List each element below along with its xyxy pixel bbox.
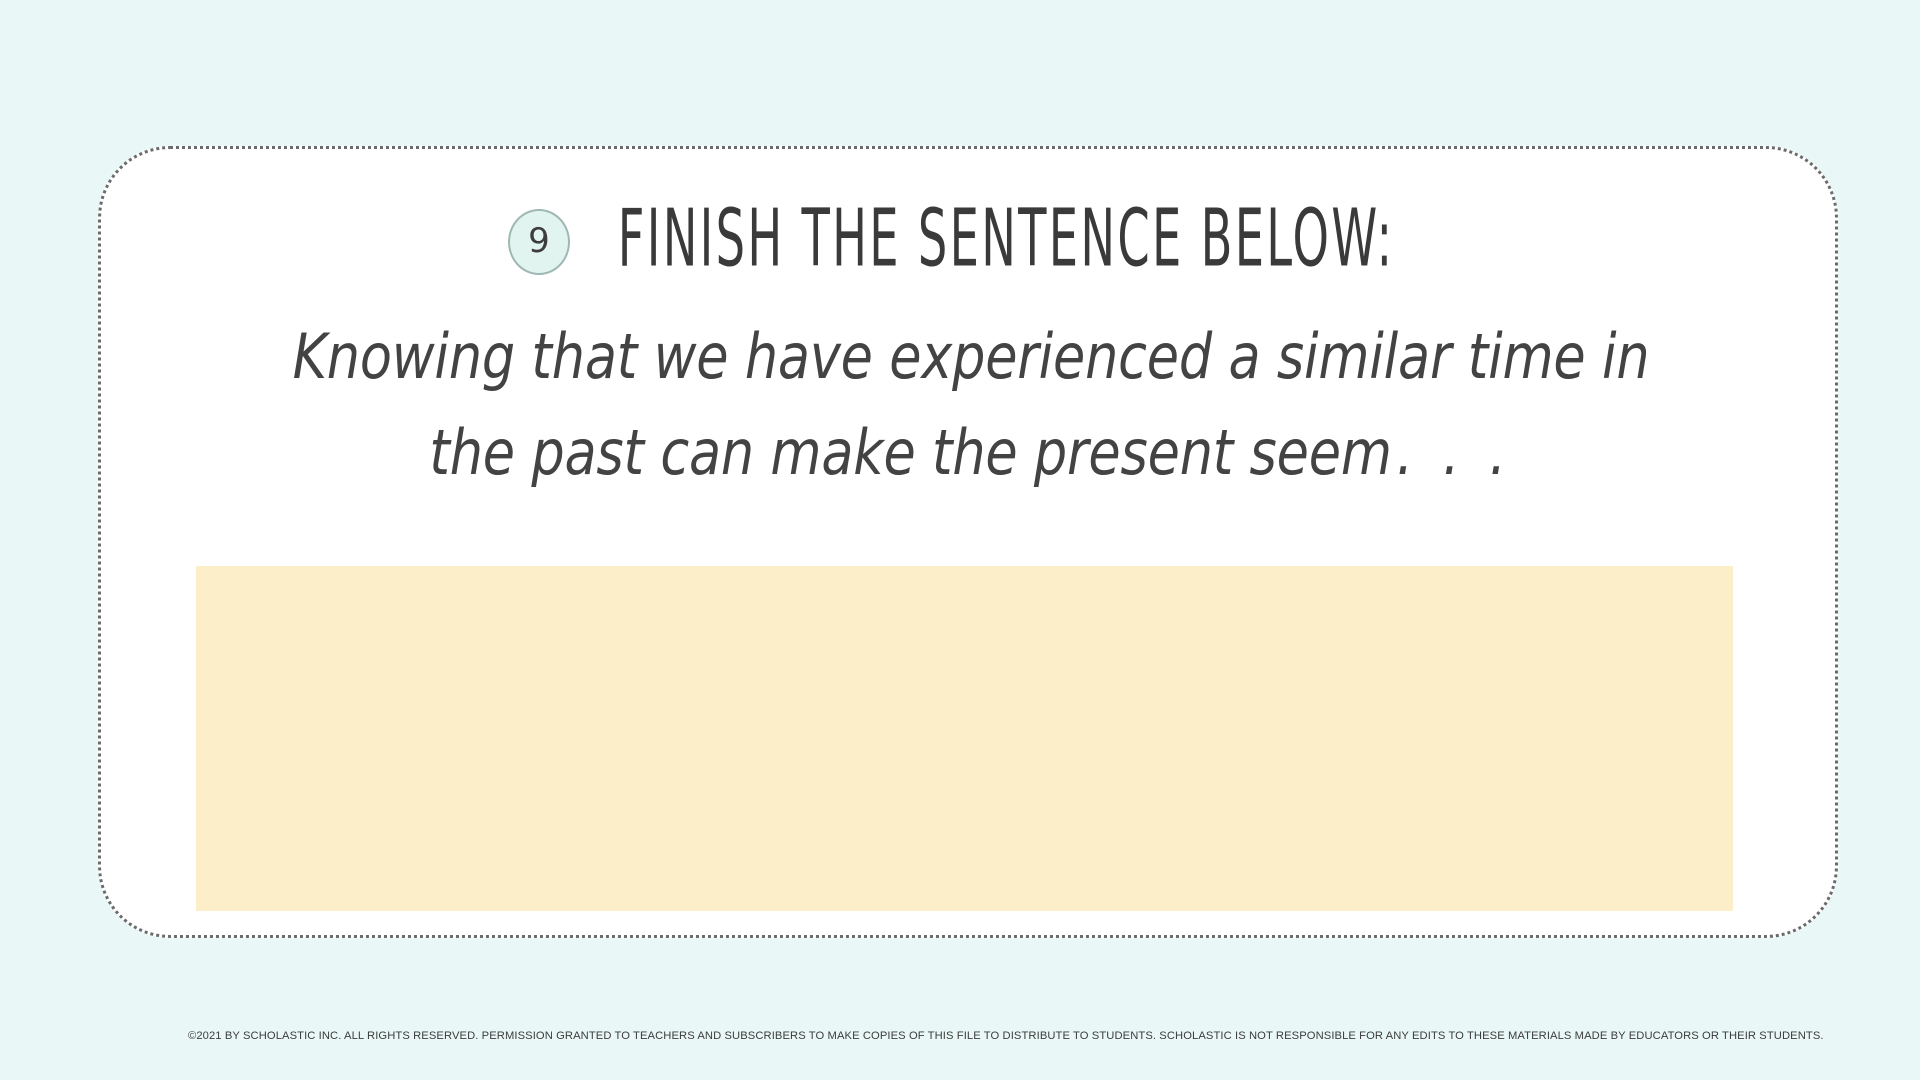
prompt-sentence: Knowing that we have experienced a simil… xyxy=(266,309,1676,501)
question-number-label: 9 xyxy=(528,224,550,258)
question-heading-label: Finish the sentence below: xyxy=(618,200,1395,280)
prompt-line-2: can make the present seem xyxy=(660,416,1391,489)
question-number-badge: 9 xyxy=(508,209,570,275)
worksheet-card: 9 Finish the sentence below: Knowing tha… xyxy=(98,146,1838,938)
question-heading: 9 Finish the sentence below: xyxy=(101,207,1835,273)
prompt-ellipsis: . . . xyxy=(1392,416,1513,489)
answer-input-area[interactable] xyxy=(196,566,1733,911)
copyright-footer: ©2021 BY SCHOLASTIC INC. ALL RIGHTS RESE… xyxy=(188,1030,1824,1042)
